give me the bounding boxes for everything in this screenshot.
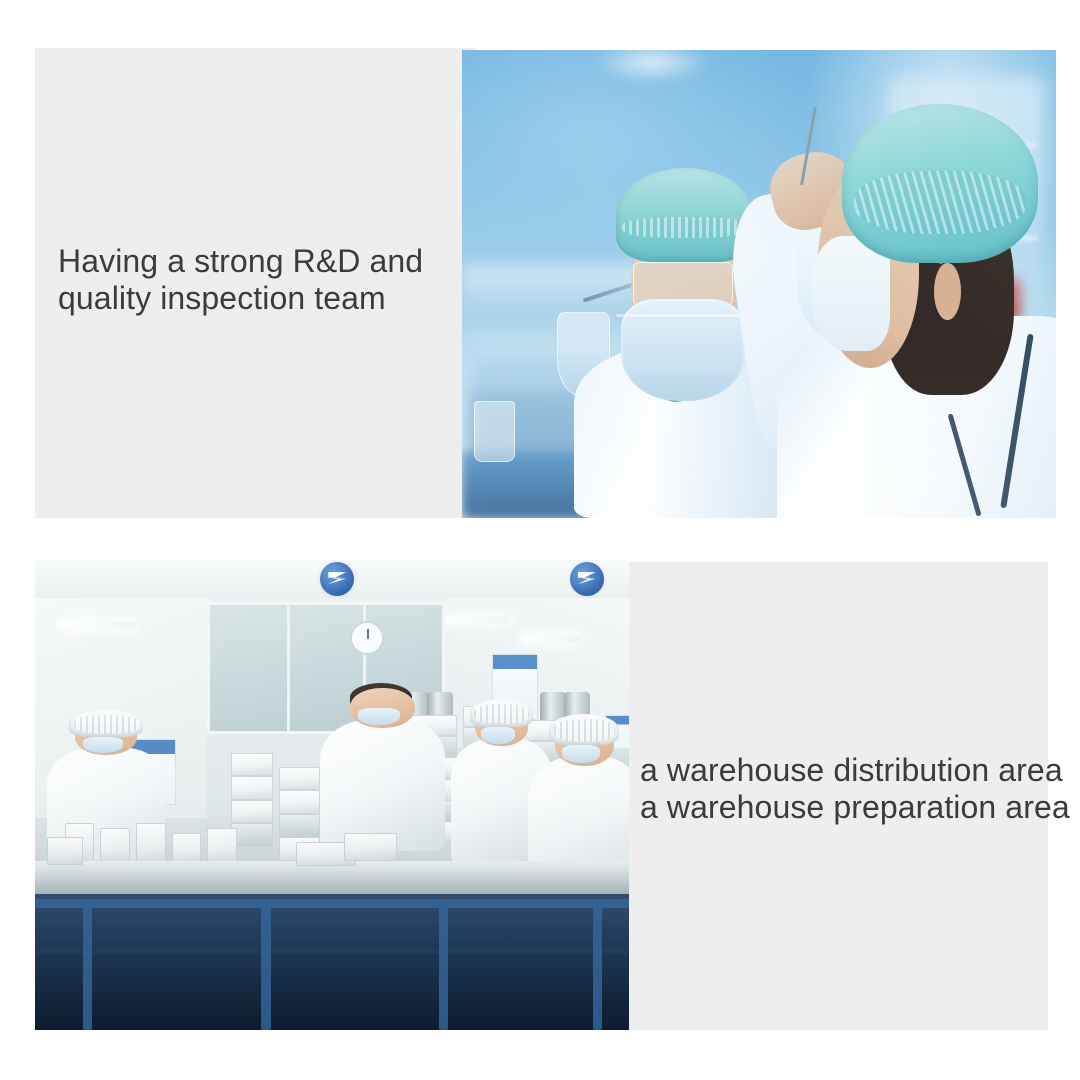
- warehouse-packing-photo: [35, 560, 629, 1030]
- ceiling-light: [445, 616, 510, 624]
- face-mask: [358, 708, 400, 725]
- face-mask: [481, 727, 515, 743]
- hair-net: [470, 699, 533, 727]
- window-mullion: [287, 605, 290, 731]
- carton-box: [279, 790, 321, 814]
- rnd-lab-photo: [462, 50, 1056, 518]
- warehouse-worker: [320, 720, 445, 852]
- company-logo-sign-icon: [320, 562, 354, 596]
- ceiling-light-glow: [593, 50, 712, 83]
- wall-clock-icon: [350, 621, 384, 655]
- ear: [934, 263, 961, 320]
- carton-box: [279, 767, 321, 791]
- company-logo-sign-icon: [570, 562, 604, 596]
- frame-leg: [439, 899, 448, 1030]
- frame-leg: [593, 899, 602, 1030]
- carton-box: [231, 823, 273, 847]
- rnd-caption: Having a strong R&D and quality inspecti…: [58, 243, 423, 317]
- face-mask: [562, 745, 600, 763]
- hair-net: [549, 714, 619, 745]
- poster-canvas: Having a strong R&D and quality inspecti…: [0, 0, 1080, 1080]
- carton-box: [279, 814, 321, 838]
- lab-scene-background: [462, 50, 1056, 518]
- white-coat: [320, 720, 445, 852]
- lab-technician-profile: [771, 78, 1056, 518]
- frame-beam: [35, 899, 629, 908]
- frame-beam: [35, 948, 629, 954]
- beaker-glassware: [474, 401, 516, 462]
- warehouse-caption-line-2: a warehouse preparation area: [640, 789, 1070, 826]
- ceiling-light: [59, 621, 136, 629]
- mask-strap: [616, 314, 754, 317]
- frame-leg: [83, 899, 92, 1030]
- carton-box: [136, 823, 166, 865]
- carton-box: [231, 800, 273, 824]
- rnd-caption-line-2: quality inspection team: [58, 280, 423, 317]
- carton-box: [231, 776, 273, 800]
- hair-net: [69, 710, 143, 737]
- face-mask: [83, 737, 123, 753]
- blue-hair-net: [842, 104, 1038, 262]
- rnd-caption-line-1: Having a strong R&D and: [58, 243, 423, 280]
- warehouse-scene-background: [35, 560, 629, 1030]
- ceiling-light: [522, 635, 581, 643]
- warehouse-caption: a warehouse distribution area a warehous…: [640, 752, 1070, 826]
- frame-leg: [261, 899, 271, 1030]
- warehouse-caption-line-1: a warehouse distribution area: [640, 752, 1070, 789]
- table-frame-understructure: [35, 894, 629, 1030]
- carton-box: [47, 837, 83, 865]
- carton-box: [231, 753, 273, 777]
- carton-box: [344, 833, 397, 861]
